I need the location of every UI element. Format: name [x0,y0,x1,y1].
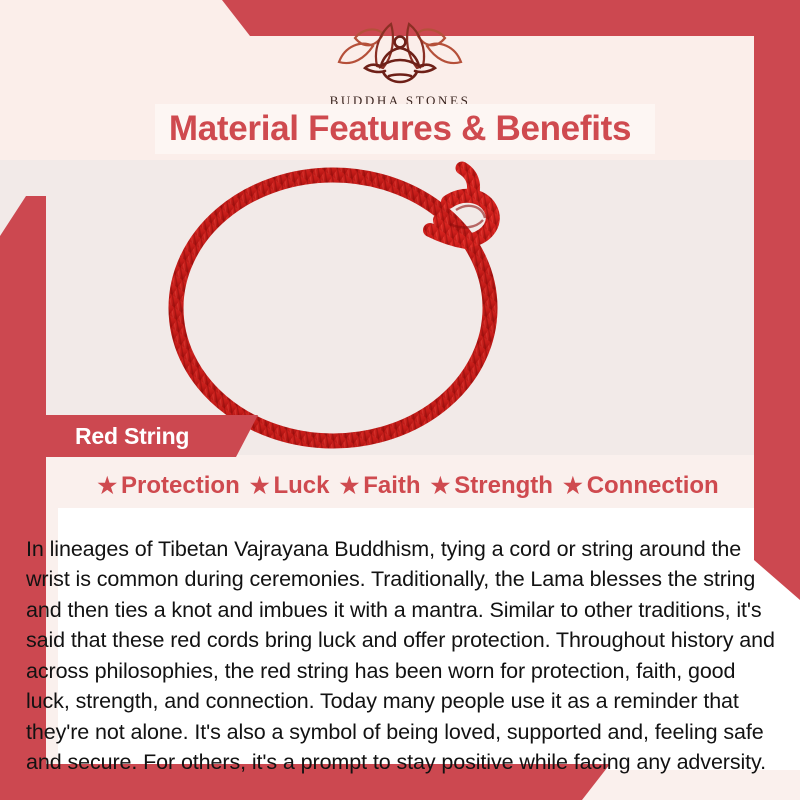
star-icon: ★ [563,475,583,497]
benefit-label: Luck [273,472,329,500]
description-text: In lineages of Tibetan Vajrayana Buddhis… [26,534,778,778]
benefit-label: Strength [454,472,553,500]
lotus-meditation-icon [325,18,475,91]
benefit-label: Faith [363,472,420,500]
benefit-item-luck: ★ Luck [242,472,330,500]
star-icon: ★ [250,475,270,497]
star-icon: ★ [339,475,359,497]
brand-logo: BUDDHA STONES [0,18,800,109]
benefit-item-protection: ★ Protection [97,472,239,500]
product-name-label: Red String [75,423,189,450]
product-feature-poster: BUDDHA STONES Material Features & Benefi… [0,0,800,800]
benefit-label: Connection [587,472,719,500]
benefits-list: ★ Protection ★ Luck ★ Faith ★ Strength ★… [58,466,758,506]
benefit-item-faith: ★ Faith [331,472,420,500]
benefit-label: Protection [121,472,240,500]
star-icon: ★ [431,475,451,497]
benefit-item-strength: ★ Strength [423,472,553,500]
page-title: Material Features & Benefits [0,104,800,154]
product-name-banner: Red String [18,415,258,457]
benefit-item-connection: ★ Connection [555,472,719,500]
star-icon: ★ [97,475,117,497]
